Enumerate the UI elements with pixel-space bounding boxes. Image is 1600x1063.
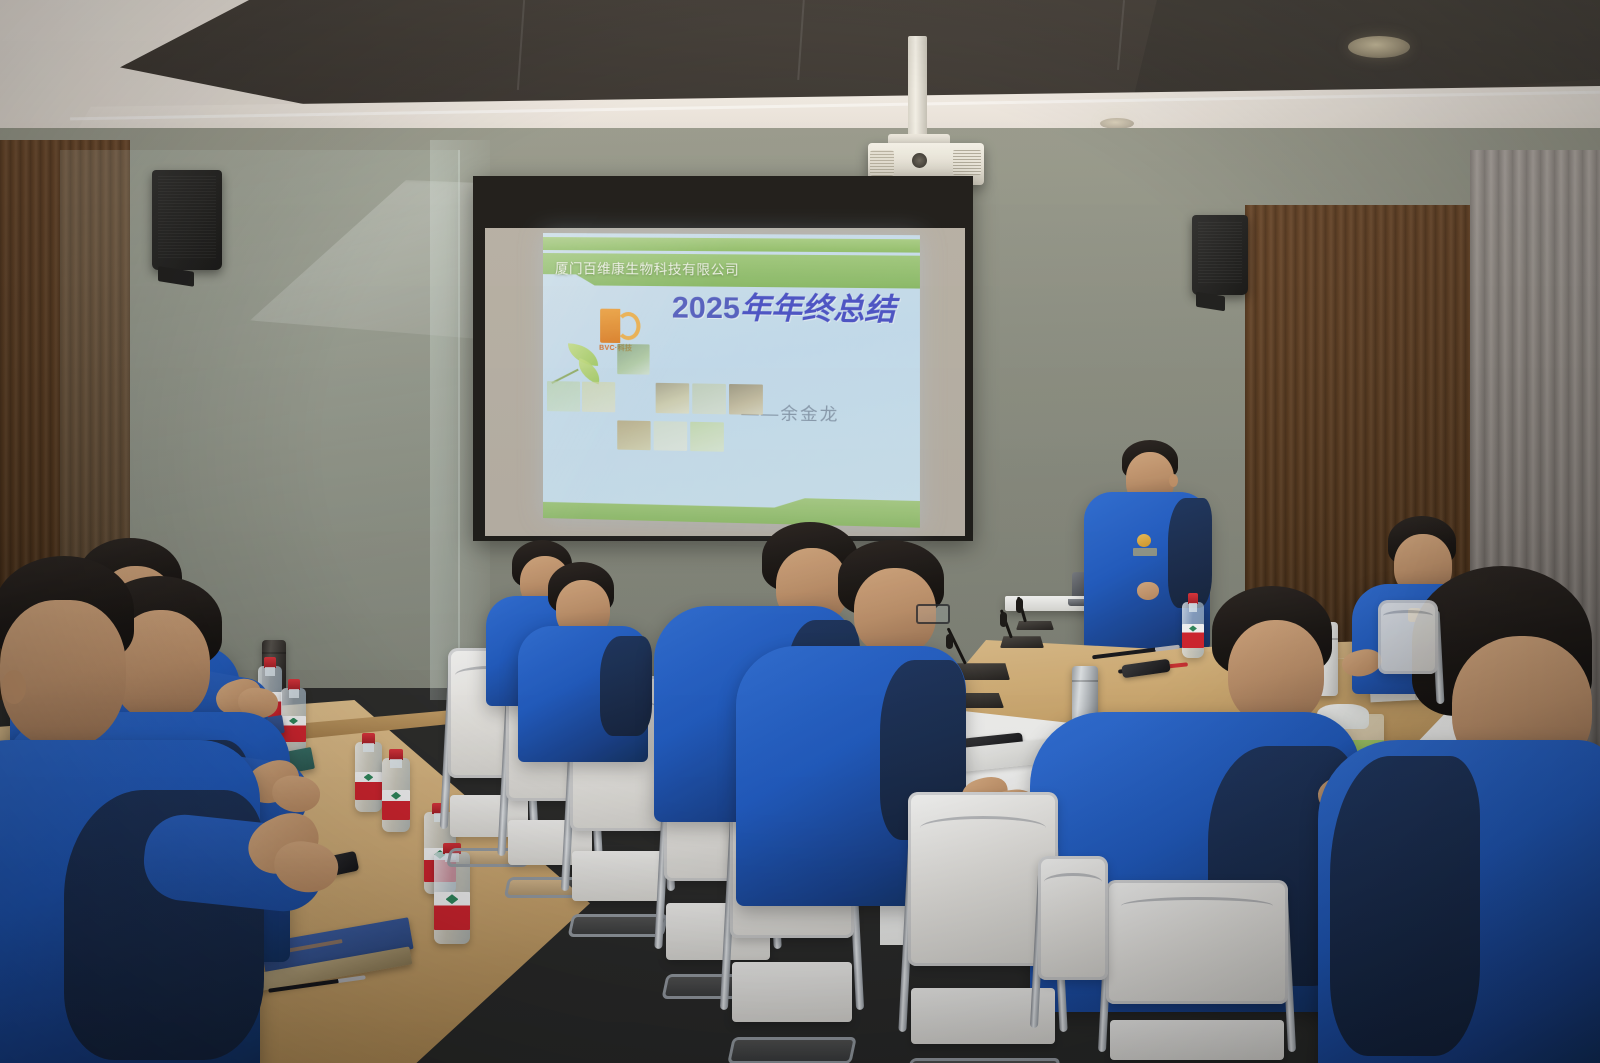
attendee-jacket-shoulder — [600, 636, 652, 736]
slide-title: 2025年年终总结 — [672, 292, 910, 327]
bottle-neck — [390, 759, 401, 768]
bottled-water[interactable] — [1182, 602, 1204, 658]
slide-thumbnail — [692, 383, 726, 414]
presenter-jacket-shoulder — [1168, 498, 1212, 608]
chair-seat — [572, 851, 664, 901]
slide-thumbnail — [617, 420, 650, 450]
flask-ring — [1072, 680, 1098, 682]
chair-back — [1378, 600, 1438, 674]
bottle-neck — [1189, 603, 1198, 612]
slide-thumbnail — [690, 422, 724, 452]
meeting-chair[interactable] — [1378, 600, 1438, 720]
microphone-base — [1016, 621, 1054, 630]
microphone-head — [1016, 598, 1023, 613]
meeting-chair[interactable] — [1038, 856, 1108, 1056]
slide-thumbnail — [617, 344, 649, 375]
bottle-neck — [363, 743, 374, 752]
wall-speaker-left — [152, 170, 222, 270]
slide-thumbnail — [547, 381, 580, 412]
flask-ring — [262, 652, 286, 654]
attendee-head — [1228, 620, 1324, 724]
presenter-hand — [1137, 582, 1159, 600]
slide-thumbnail — [729, 384, 763, 415]
microphone-base — [1000, 636, 1044, 648]
recessed-downlight-icon — [1348, 36, 1410, 58]
presenter-ear — [1169, 474, 1178, 487]
leaf-blade — [574, 358, 605, 384]
chair-skid-base — [727, 1037, 857, 1063]
attendee-ear — [2, 670, 26, 704]
chair-back — [1106, 880, 1288, 1004]
logo-swirl-mark — [616, 312, 640, 340]
slide-thumbnail — [582, 382, 615, 413]
wall-speaker-right — [1192, 215, 1248, 295]
chair-skid-base — [568, 914, 669, 937]
conference-microphone[interactable] — [1016, 608, 1054, 630]
slide-title-text: 年年终总结 — [740, 292, 896, 327]
projector-grille — [953, 150, 981, 175]
bottle-label — [382, 790, 410, 820]
presenter-badge-text — [1133, 548, 1157, 556]
projector-mount-pole — [908, 36, 927, 146]
speaker-grill — [158, 175, 216, 258]
projector-vent — [870, 150, 894, 176]
slide-thumbnail — [654, 421, 688, 451]
slide-title-year: 2025 — [672, 291, 740, 325]
bottle-neck — [289, 689, 299, 698]
chair-back — [1038, 856, 1108, 980]
bottled-water[interactable] — [355, 742, 382, 812]
presentation-slide: 厦门百维康生物科技有限公司 2025年年终总结 ——余金龙 BVC·科技 — [543, 233, 920, 528]
meeting-chair[interactable] — [1106, 880, 1288, 1063]
microphone-head — [1000, 612, 1007, 627]
bottle-label — [281, 716, 306, 742]
attendee-glasses — [916, 604, 950, 624]
slide-top-band — [543, 237, 920, 253]
presenter-logo-badge — [1137, 534, 1151, 547]
slide-thumbnail — [656, 383, 690, 414]
chair-skid-base — [905, 1058, 1060, 1063]
projector-lens-icon — [912, 153, 927, 168]
bottled-water[interactable] — [382, 758, 410, 832]
chair-seat — [732, 962, 851, 1022]
chair-seat — [1110, 1020, 1285, 1060]
speaker-grill — [1198, 220, 1242, 283]
bottle-label — [1182, 624, 1204, 648]
bottle-label — [434, 892, 470, 930]
bottle-label — [355, 772, 382, 800]
microphone-head — [946, 634, 953, 649]
slide-company-name: 厦门百维康生物科技有限公司 — [555, 257, 739, 279]
bottle-neck — [265, 667, 275, 676]
conference-room-scene: 厦门百维康生物科技有限公司 2025年年终总结 ——余金龙 BVC·科技 — [0, 0, 1600, 1063]
attendee-jacket-shoulder — [1330, 756, 1480, 1056]
